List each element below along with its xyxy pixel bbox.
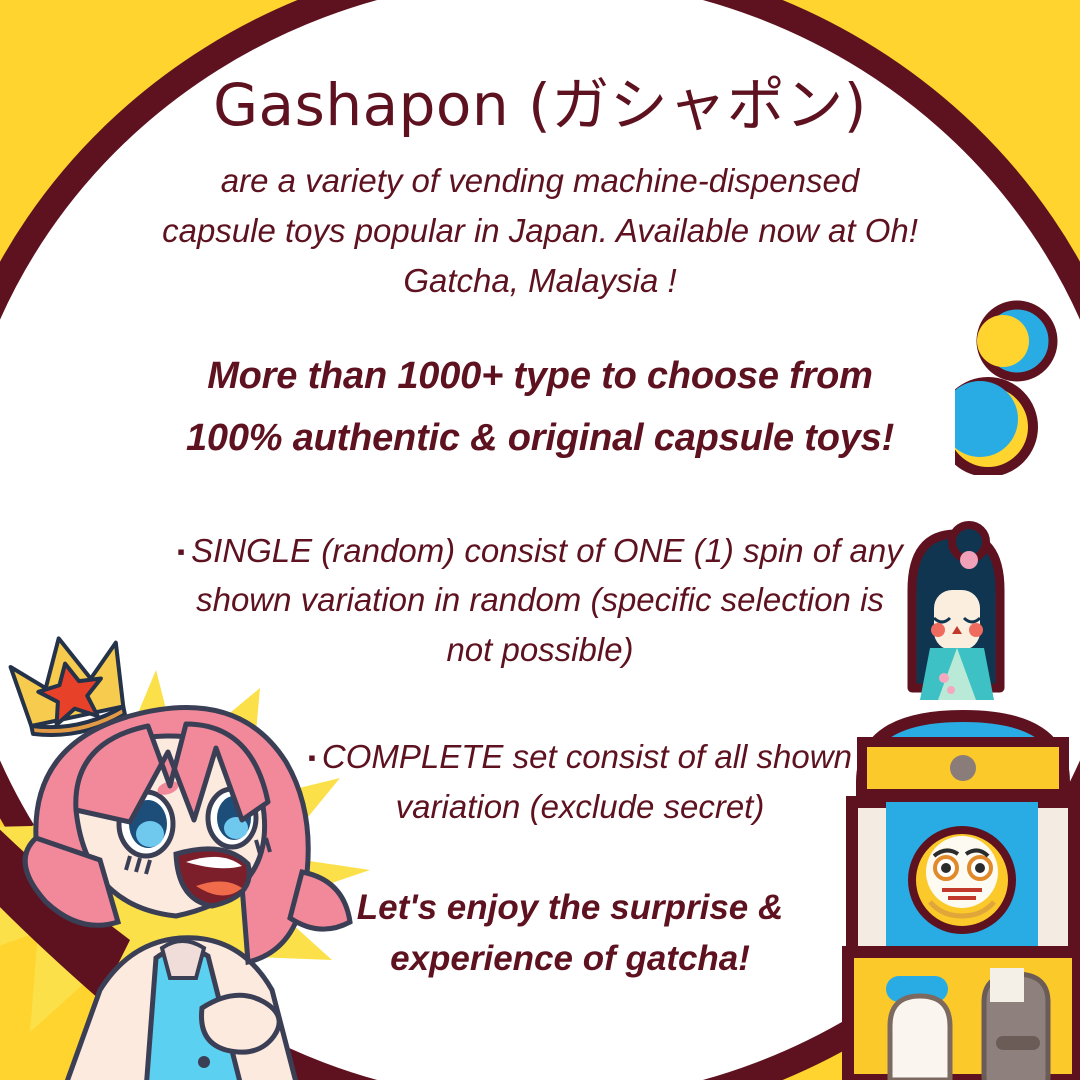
gashapon-vending-machine (838, 520, 1080, 1080)
poster-canvas: Gashapon (ガシャポン) are a variety of vendin… (0, 0, 1080, 1080)
daruma-doll (912, 830, 1012, 930)
capsule-toy-small (977, 305, 1053, 377)
excited-anime-girl (0, 690, 370, 1080)
capsule-toys-group (955, 295, 1065, 475)
capsule-toy-large (955, 381, 1033, 472)
kokeshi-doll (912, 525, 1000, 700)
